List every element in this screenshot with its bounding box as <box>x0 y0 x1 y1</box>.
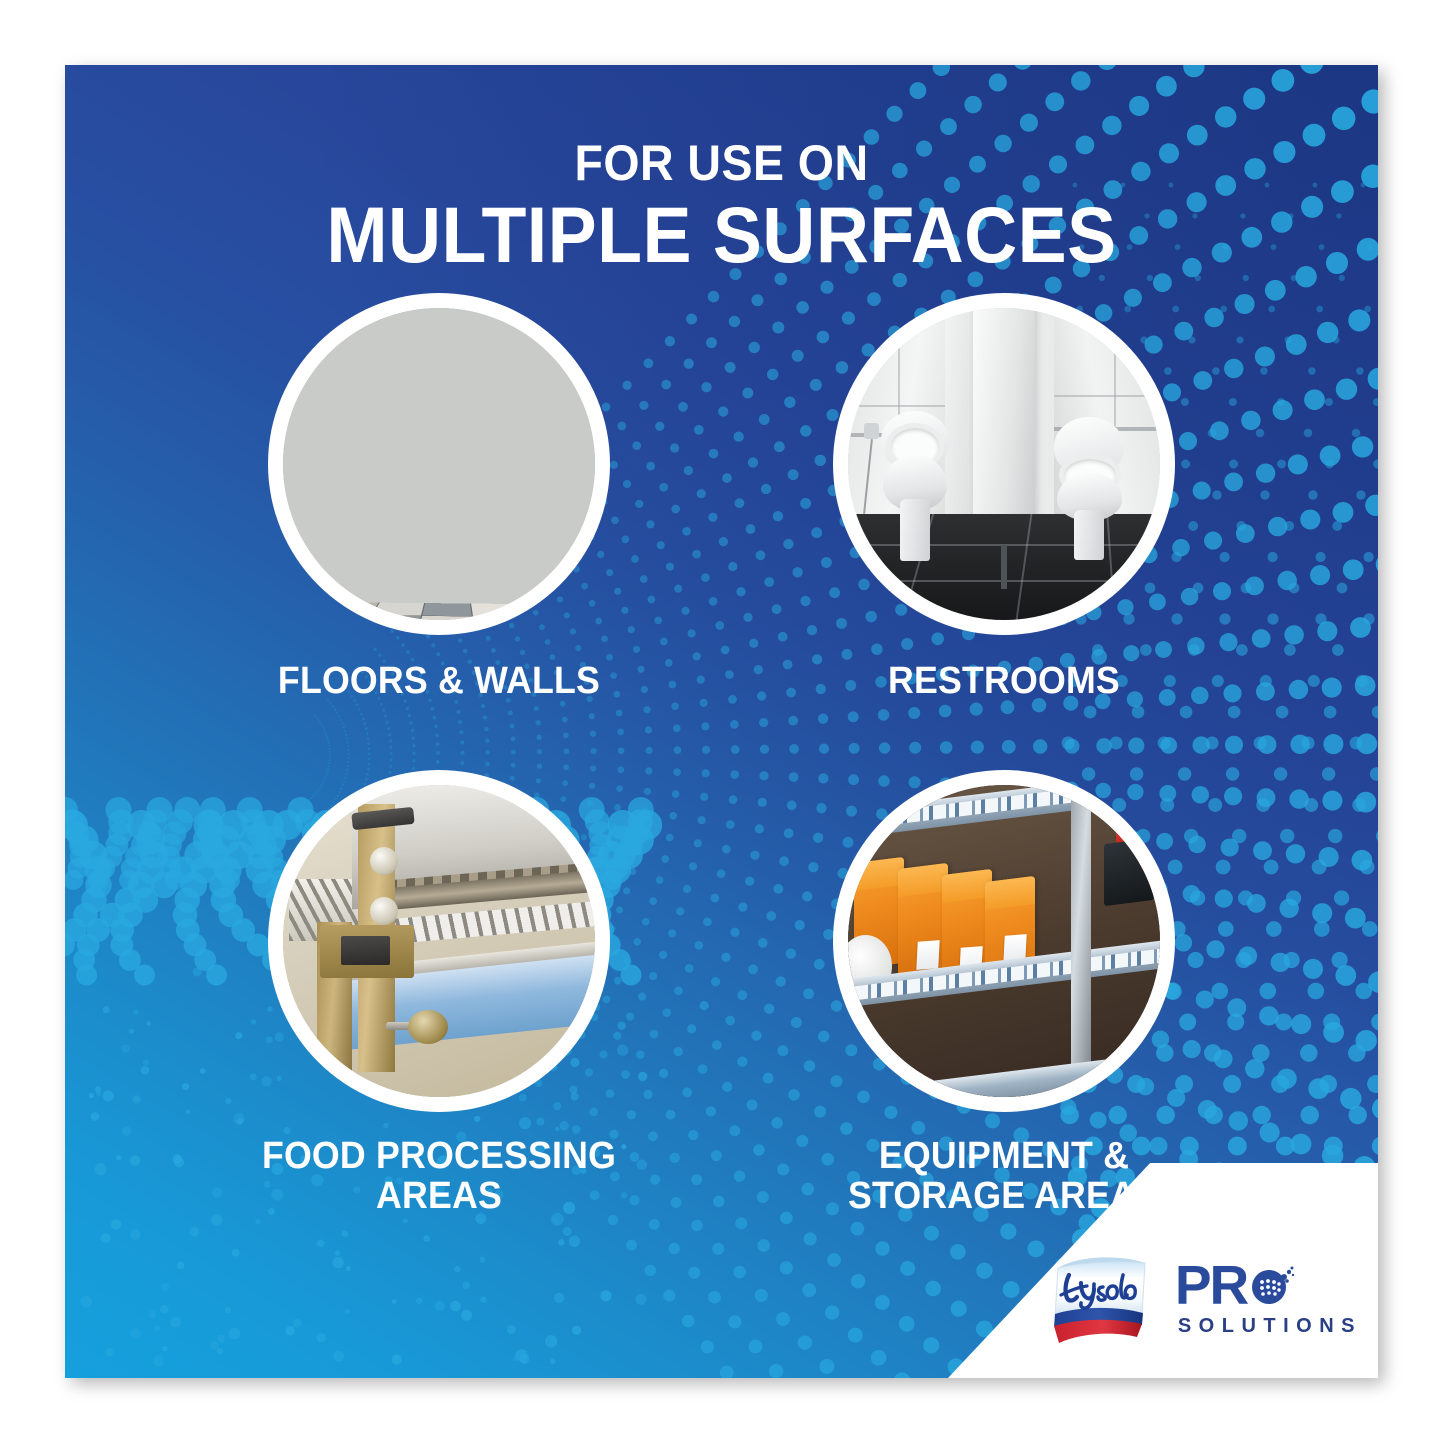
page-title: FOR USE ON MULTIPLE SURFACES <box>65 138 1378 274</box>
blue-panel: FOR USE ON MULTIPLE SURFACES <box>65 65 1378 1378</box>
infographic-canvas: FOR USE ON MULTIPLE SURFACES <box>0 0 1445 1445</box>
warehouse-storage-bins-photo <box>848 785 1160 1097</box>
pro-solutions-lockup: PR <box>1175 1262 1362 1338</box>
title-line-1: FOR USE ON <box>111 138 1332 188</box>
surface-item-restrooms: RESTROOMS <box>794 293 1214 701</box>
photo-frame <box>833 770 1175 1112</box>
photo-frame <box>833 293 1175 635</box>
tile-floor-photo <box>283 308 595 620</box>
surface-label: RESTROOMS <box>807 661 1202 701</box>
photo-frame <box>268 770 610 1112</box>
restroom-stalls-photo <box>848 308 1160 620</box>
solutions-wordmark: SOLUTIONS <box>1178 1315 1362 1338</box>
food-processing-machinery-photo <box>283 785 595 1097</box>
brand-logo: PR <box>1047 1248 1362 1352</box>
title-line-2: MULTIPLE SURFACES <box>111 195 1332 274</box>
surface-label: FLOORS & WALLS <box>242 661 637 701</box>
lysol-logo-icon <box>1047 1251 1159 1349</box>
surface-item-equipment-storage: EQUIPMENT & STORAGE AREAS <box>794 770 1214 1217</box>
pro-o-bubble-icon <box>1248 1262 1296 1310</box>
surface-item-floors-walls: FLOORS & WALLS <box>229 293 649 701</box>
pro-wordmark: PR <box>1175 1262 1247 1309</box>
surface-item-food-processing: FOOD PROCESSING AREAS <box>229 770 649 1217</box>
surface-label: FOOD PROCESSING AREAS <box>242 1136 637 1217</box>
photo-frame <box>268 293 610 635</box>
